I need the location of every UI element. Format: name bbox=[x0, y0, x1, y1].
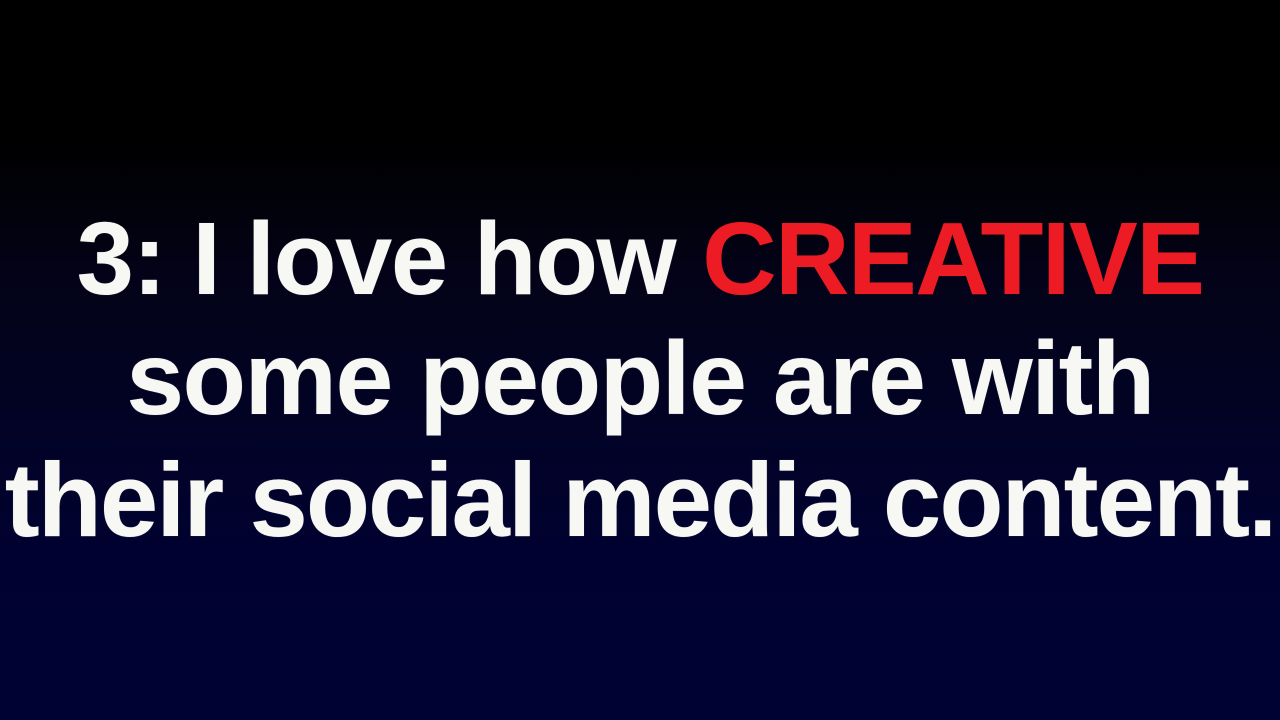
caption-line-3: their social media content. bbox=[0, 440, 1280, 561]
emphasis-word-creative: CREATIVE bbox=[702, 201, 1203, 316]
slide-canvas: 3: I love how CREATIVE some people are w… bbox=[0, 0, 1280, 720]
caption-block: 3: I love how CREATIVE some people are w… bbox=[0, 198, 1280, 561]
caption-line-1-prefix: 3: I love how bbox=[77, 201, 703, 316]
caption-line-2: some people are with bbox=[0, 319, 1280, 440]
caption-line-1: 3: I love how CREATIVE bbox=[0, 198, 1280, 319]
